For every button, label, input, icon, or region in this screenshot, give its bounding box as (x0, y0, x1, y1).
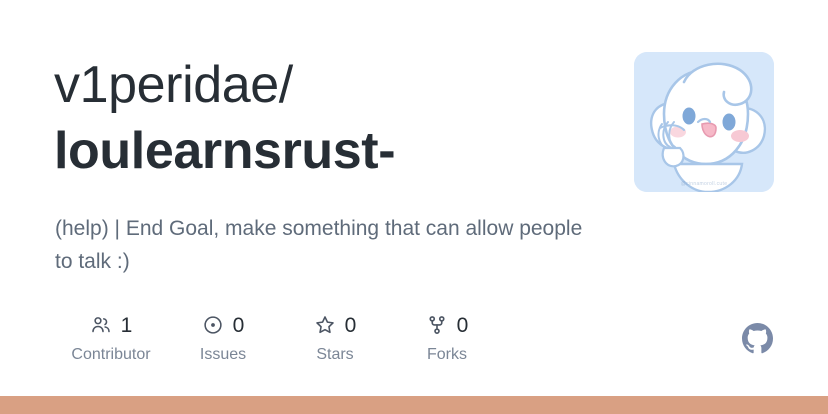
github-logo-icon (742, 323, 773, 354)
repo-description: (help) | End Goal, make something that c… (55, 212, 585, 278)
stat-top: 1 (90, 312, 133, 338)
stat-value: 0 (345, 315, 357, 336)
stat-label: Contributor (71, 347, 150, 363)
stat-label: Forks (427, 347, 467, 363)
stat-contributors[interactable]: 1 Contributor (55, 312, 167, 363)
stat-label: Issues (200, 347, 246, 363)
stat-stars[interactable]: 0 Stars (279, 312, 391, 363)
repo-stats: 1 Contributor 0 Issues (55, 312, 503, 363)
stat-value: 1 (121, 315, 133, 336)
avatar: @cinnamoroll.cute (634, 52, 774, 192)
stat-value: 0 (457, 315, 469, 336)
page-title: v1peridae/ loulearnsrust- (54, 52, 614, 185)
stat-issues[interactable]: 0 Issues (167, 312, 279, 363)
stat-value: 0 (233, 315, 245, 336)
stat-top: 0 (202, 312, 245, 338)
star-icon (314, 314, 336, 336)
repo-name[interactable]: loulearnsrust- (54, 118, 614, 186)
stat-top: 0 (314, 312, 357, 338)
stat-forks[interactable]: 0 Forks (391, 312, 503, 363)
stat-top: 0 (426, 312, 469, 338)
repo-owner[interactable]: v1peridae/ (54, 52, 614, 120)
people-icon (90, 314, 112, 336)
stat-label: Stars (316, 347, 353, 363)
issue-opened-icon (202, 314, 224, 336)
repo-forked-icon (426, 314, 448, 336)
accent-bar (0, 396, 828, 414)
repository-card: v1peridae/ loulearnsrust- (help) | End G… (0, 0, 828, 396)
